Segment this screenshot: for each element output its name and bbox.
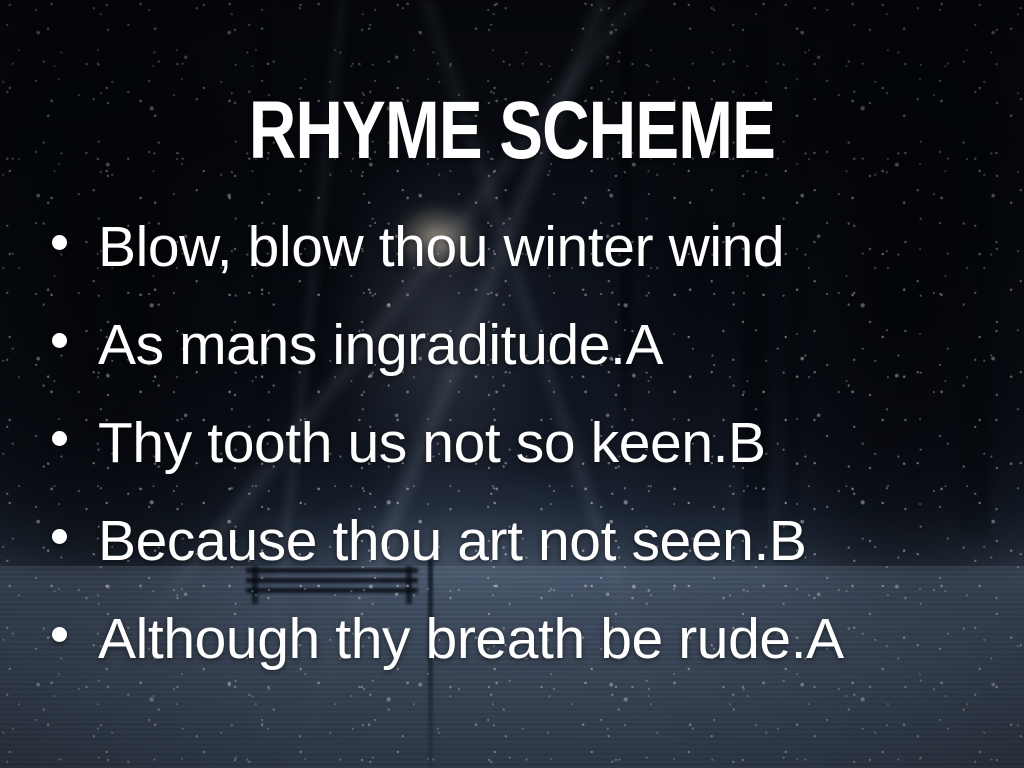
slide-content: RHYME SCHEME Blow, blow thou winter wind… [0,0,1024,768]
list-item-label: Although thy breath be rude.A [98,590,844,688]
bullet-dot-icon [52,431,67,446]
presentation-slide: RHYME SCHEME Blow, blow thou winter wind… [0,0,1024,768]
list-item: As mans ingraditude.A [52,296,1014,394]
bullet-list: Blow, blow thou winter wind As mans ingr… [52,198,1014,688]
list-item: Because thou art not seen.B [52,492,1014,590]
list-item-label: Blow, blow thou winter wind [98,198,784,296]
list-item: Thy tooth us not so keen.B [52,394,1014,492]
list-item-label: As mans ingraditude.A [98,296,663,394]
list-item-label: Because thou art not seen.B [98,492,807,590]
bullet-dot-icon [52,627,67,642]
slide-title: RHYME SCHEME [102,88,921,174]
bullet-dot-icon [52,333,67,348]
list-item: Although thy breath be rude.A [52,590,1014,688]
bullet-dot-icon [52,235,67,250]
list-item-label: Thy tooth us not so keen.B [98,394,766,492]
list-item: Blow, blow thou winter wind [52,198,1014,296]
bullet-dot-icon [52,529,67,544]
